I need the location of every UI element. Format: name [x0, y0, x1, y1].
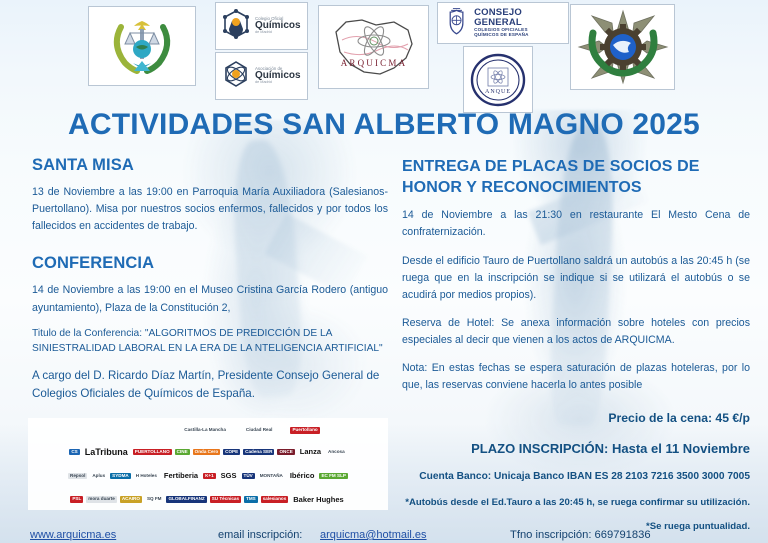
nota-saturacion-text: Nota: En estas fechas se espera saturaci…	[402, 360, 750, 394]
anque-wordmark: ANQUE	[485, 89, 511, 95]
sponsor-logo: COPE	[223, 449, 240, 456]
sponsor-logo: Ancosa	[326, 449, 347, 456]
email-link[interactable]: arquicma@hotmail.es	[320, 529, 427, 541]
sponsor-logo: GLOBALFINANZ	[166, 496, 206, 503]
hexagon-atom-icon	[221, 59, 251, 93]
conferencia-heading: CONFERENCIA	[32, 254, 388, 273]
sponsor-logo: Aplus	[90, 473, 107, 480]
sponsor-logo: H Hoteles	[134, 473, 159, 480]
sponsor-logo: Repsol	[68, 473, 87, 480]
conferencia-title-text: Titulo de la Conferencia: "ALGORITMOS DE…	[32, 326, 388, 357]
seguridad-en-el-trabajo-emblem-icon	[570, 4, 675, 90]
consejo-general-logo: CONSEJO GENERAL COLEGIOS OFICIALES QUÍMI…	[437, 2, 569, 44]
anque-seal-logo: ANQUE	[463, 46, 533, 113]
sponsor-logo: LaTribuna	[83, 447, 130, 458]
autobus-note: *Autobús desde el Ed.Tauro a las 20:45 h…	[402, 496, 750, 510]
conferencia-text: 14 de Noviembre a las 19:00 en el Museo …	[32, 282, 388, 316]
poster-canvas: Colegio Oficial Químicos de Madrid Asoci…	[0, 0, 768, 543]
consejo-crest-icon	[443, 6, 470, 40]
hexagon-flask-icon	[221, 9, 251, 43]
sponsor-logo: ACAIRO	[120, 496, 142, 503]
colegio-oficial-quimicos-castilla-mancha-crest-icon	[88, 6, 196, 86]
sponsor-logo: EC FM SLP	[319, 473, 348, 480]
sponsor-logo: TÜV	[242, 473, 255, 480]
header-logo-strip: Colegio Oficial Químicos de Madrid Asoci…	[0, 0, 768, 112]
asociacion-quimicos-logo: Asociación de Químicos de Madrid	[215, 52, 308, 100]
sponsor-logo: K+1	[203, 473, 216, 480]
arquicma-wordmark: ARQUICMA	[340, 58, 407, 68]
sponsor-logo-collage: Castilla-La Mancha Ciudad Real Puertolla…	[28, 418, 388, 510]
cuenta-banco: Cuenta Banco: Unicaja Banco IBAN ES 28 2…	[402, 469, 750, 484]
logo-cg-line3: QUÍMICOS DE ESPAÑA	[474, 33, 563, 38]
sponsor-logo: Ciudad Real	[244, 427, 275, 434]
sponsor-logo: mora duarte	[86, 496, 117, 503]
sponsor-logo: TMS	[244, 496, 258, 503]
arquicma-map-logo: ARQUICMA	[318, 5, 429, 89]
autobus-text: Desde el edificio Tauro de Puertollano s…	[402, 253, 750, 304]
santa-misa-heading: SANTA MISA	[32, 156, 388, 175]
phone-text: Tfno inscripción: 669791836	[510, 529, 651, 541]
precio-cena: Precio de la cena: 45 €/p	[402, 409, 750, 427]
plazo-inscripcion: PLAZO INSCRIPCIÓN: Hasta el 11 Noviembre	[402, 439, 750, 459]
email-label: email inscripción:	[218, 529, 302, 541]
reserva-hotel-text: Reserva de Hotel: Se anexa información s…	[402, 315, 750, 349]
sponsor-row-institutional: Castilla-La Mancha Ciudad Real Puertolla…	[32, 421, 384, 440]
sponsor-logo: PSL	[70, 496, 83, 503]
page-title: ACTIVIDADES SAN ALBERTO MAGNO 2025	[0, 108, 768, 142]
sponsor-logo: Onda Cero	[193, 449, 220, 456]
sponsor-logo: Baker Hughes	[291, 495, 345, 505]
sponsor-row-media: CS LaTribuna PUERTOLLANO CINE Onda Cero …	[32, 440, 384, 464]
left-column: SANTA MISA 13 de Noviembre a las 19:00 e…	[32, 156, 388, 413]
sponsor-logo: Cadena SER	[243, 449, 274, 456]
sponsor-row-industry: Repsol Aplus SYDMA H Hoteles Fertiberia …	[32, 464, 384, 488]
santa-misa-text: 13 de Noviembre a las 19:00 en Parroquia…	[32, 184, 388, 235]
sponsor-logo: PUERTOLLANO	[133, 449, 172, 456]
sponsor-logo: SQ FM	[145, 496, 164, 503]
sponsor-logo: salesianos	[261, 496, 289, 503]
colegio-oficial-quimicos-logo: Colegio Oficial Químicos de Madrid	[215, 2, 308, 50]
logo-coq-line3: de Madrid	[255, 31, 301, 35]
sponsor-logo: MONTAÑA	[258, 473, 285, 480]
sponsor-logo: SGS	[219, 471, 239, 481]
conferencia-speaker: A cargo del D. Ricardo Díaz Martín, Pres…	[32, 367, 388, 403]
sponsor-logo: CS	[69, 449, 79, 456]
entrega-cena-text: 14 de Noviembre a las 21:30 en restauran…	[402, 207, 750, 241]
sponsor-row-services: PSL mora duarte ACAIRO SQ FM GLOBALFINAN…	[32, 488, 384, 510]
right-column: ENTREGA DE PLACAS DE SOCIOS DE HONOR Y R…	[402, 156, 750, 535]
logo-cg-line1: CONSEJO GENERAL	[474, 8, 563, 28]
website-link[interactable]: www.arquicma.es	[30, 529, 116, 541]
logo-aq-line3: de Madrid	[255, 81, 301, 85]
entrega-placas-heading: ENTREGA DE PLACAS DE SOCIOS DE HONOR Y R…	[402, 156, 750, 198]
sponsor-logo: CINE	[175, 449, 190, 456]
sponsor-logo: Ibérico	[288, 471, 317, 481]
sponsor-logo: Lanza	[298, 447, 323, 457]
sponsor-logo: SYDMA	[110, 473, 131, 480]
sponsor-logo: ONCE	[277, 449, 294, 456]
sponsor-logo: Fertiberia	[162, 471, 200, 481]
sponsor-logo: Castilla-La Mancha	[182, 427, 228, 434]
sponsor-logo: Puertollano	[290, 427, 319, 434]
sponsor-logo: SU Técnicas	[210, 496, 241, 503]
